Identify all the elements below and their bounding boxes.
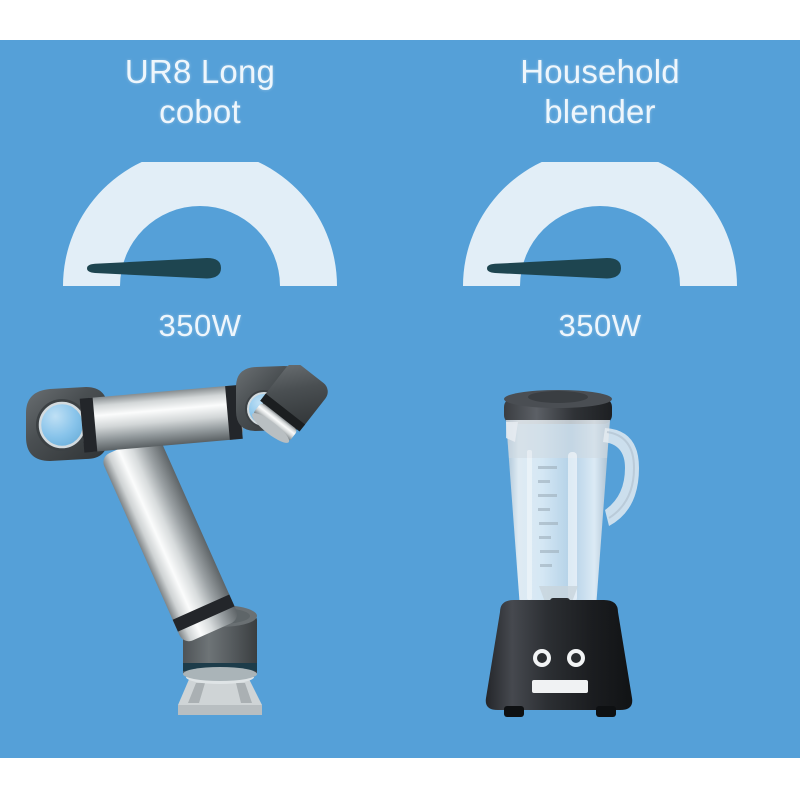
household-blender (400, 380, 800, 740)
cobot-lower-arm (100, 432, 240, 644)
blender-badge (532, 680, 588, 693)
comparison-column-cobot: UR8 Long cobot 350W (0, 40, 400, 758)
gauge-value-blender: 350W (400, 308, 800, 344)
column-title-cobot: UR8 Long cobot (0, 52, 400, 133)
gauge-cobot (0, 162, 400, 297)
cobot-illustration (0, 365, 400, 735)
blender-jar (506, 420, 610, 614)
gauge-icon (455, 162, 745, 292)
ur8-long-cobot-robot-arm (0, 365, 400, 735)
cobot-upper-arm (80, 385, 244, 453)
blender-motor-base (486, 600, 633, 717)
blender-lid (504, 390, 612, 424)
blender-illustration (400, 380, 800, 740)
slide-canvas: UR8 Long cobot 350W (0, 0, 800, 800)
column-title-blender: Household blender (400, 52, 800, 133)
gauge-blender (400, 162, 800, 297)
gauge-value-cobot: 350W (0, 308, 400, 344)
comparison-column-blender: Household blender 350W (400, 40, 800, 758)
comparison-panel: UR8 Long cobot 350W (0, 40, 800, 758)
gauge-icon (55, 162, 345, 292)
blender-handle (603, 428, 639, 526)
